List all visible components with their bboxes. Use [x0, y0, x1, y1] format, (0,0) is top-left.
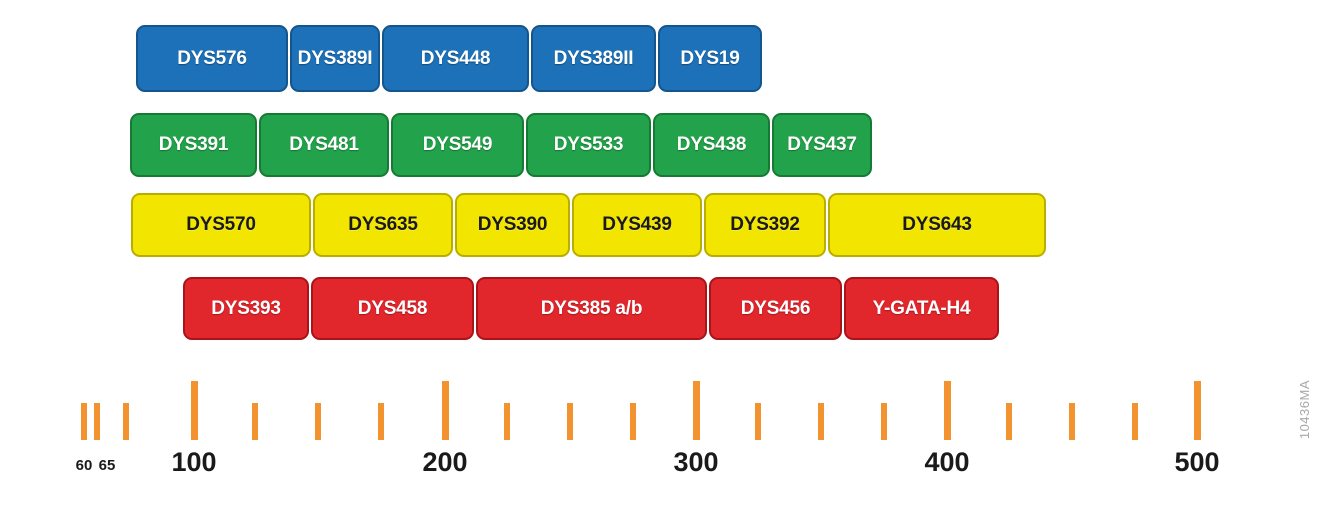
- marker-box[interactable]: DYS391: [130, 113, 257, 177]
- green-dye-channel: DYS391DYS481DYS549DYS533DYS438DYS437: [130, 113, 872, 177]
- marker-label: DYS438: [677, 134, 747, 156]
- marker-label: Y-GATA-H4: [873, 298, 971, 320]
- axis-label-500: 500: [1174, 447, 1219, 478]
- axis-tick-225: [504, 403, 510, 440]
- marker-label: DYS570: [186, 214, 256, 236]
- axis-label-60: 60: [76, 457, 93, 474]
- marker-box[interactable]: DYS390: [455, 193, 570, 257]
- marker-box[interactable]: DYS439: [572, 193, 702, 257]
- red-dye-channel: DYS393DYS458DYS385 a/bDYS456Y-GATA-H4: [183, 277, 999, 340]
- marker-box[interactable]: DYS437: [772, 113, 872, 177]
- marker-box[interactable]: DYS389I: [290, 25, 380, 92]
- axis-tick-275: [630, 403, 636, 440]
- marker-label: DYS643: [902, 214, 972, 236]
- marker-label: DYS19: [680, 48, 739, 70]
- marker-box[interactable]: DYS549: [391, 113, 524, 177]
- axis-tick-475: [1132, 403, 1138, 440]
- axis-label-300: 300: [673, 447, 718, 478]
- marker-box[interactable]: DYS576: [136, 25, 288, 92]
- axis-tick-500: [1194, 381, 1201, 440]
- marker-box[interactable]: DYS393: [183, 277, 309, 340]
- axis-label-400: 400: [924, 447, 969, 478]
- axis-tick-250: [567, 403, 573, 440]
- axis-tick-450: [1069, 403, 1075, 440]
- axis-tick-80: [123, 403, 129, 440]
- marker-box[interactable]: DYS389II: [531, 25, 656, 92]
- marker-box[interactable]: DYS570: [131, 193, 311, 257]
- axis-tick-375: [881, 403, 887, 440]
- marker-label: DYS458: [358, 298, 428, 320]
- marker-box[interactable]: DYS643: [828, 193, 1046, 257]
- marker-label: DYS390: [478, 214, 548, 236]
- marker-label: DYS635: [348, 214, 418, 236]
- axis-label-65: 65: [99, 457, 116, 474]
- marker-label: DYS439: [602, 214, 672, 236]
- y-str-marker-map: DYS576DYS389IDYS448DYS389IIDYS19DYS391DY…: [0, 0, 1320, 516]
- yellow-dye-channel: DYS570DYS635DYS390DYS439DYS392DYS643: [131, 193, 1046, 257]
- axis-tick-350: [818, 403, 824, 440]
- marker-label: DYS576: [177, 48, 247, 70]
- axis-label-200: 200: [422, 447, 467, 478]
- marker-box[interactable]: Y-GATA-H4: [844, 277, 999, 340]
- marker-label: DYS437: [787, 134, 857, 156]
- axis-label-100: 100: [171, 447, 216, 478]
- marker-box[interactable]: DYS456: [709, 277, 842, 340]
- marker-label: DYS385 a/b: [541, 298, 643, 320]
- watermark-label: 10436MA: [1297, 380, 1312, 439]
- marker-label: DYS448: [421, 48, 491, 70]
- marker-label: DYS456: [741, 298, 811, 320]
- axis-tick-325: [755, 403, 761, 440]
- marker-box[interactable]: DYS392: [704, 193, 826, 257]
- axis-tick-400: [944, 381, 951, 440]
- marker-box[interactable]: DYS19: [658, 25, 762, 92]
- marker-box[interactable]: DYS385 a/b: [476, 277, 707, 340]
- marker-label: DYS481: [289, 134, 359, 156]
- axis-tick-300: [693, 381, 700, 440]
- axis-tick-125: [252, 403, 258, 440]
- marker-label: DYS533: [554, 134, 624, 156]
- marker-label: DYS389I: [298, 48, 373, 70]
- axis-tick-425: [1006, 403, 1012, 440]
- axis-tick-100: [191, 381, 198, 440]
- axis-tick-65: [94, 403, 100, 440]
- blue-dye-channel: DYS576DYS389IDYS448DYS389IIDYS19: [136, 25, 762, 92]
- marker-label: DYS392: [730, 214, 800, 236]
- axis-tick-175: [378, 403, 384, 440]
- marker-label: DYS393: [211, 298, 281, 320]
- axis-tick-60: [81, 403, 87, 440]
- axis-tick-150: [315, 403, 321, 440]
- marker-box[interactable]: DYS533: [526, 113, 651, 177]
- marker-box[interactable]: DYS481: [259, 113, 389, 177]
- axis-tick-200: [442, 381, 449, 440]
- marker-label: DYS391: [159, 134, 229, 156]
- marker-label: DYS389II: [554, 48, 634, 70]
- marker-box[interactable]: DYS635: [313, 193, 453, 257]
- marker-label: DYS549: [423, 134, 493, 156]
- marker-box[interactable]: DYS438: [653, 113, 770, 177]
- marker-box[interactable]: DYS458: [311, 277, 474, 340]
- marker-box[interactable]: DYS448: [382, 25, 529, 92]
